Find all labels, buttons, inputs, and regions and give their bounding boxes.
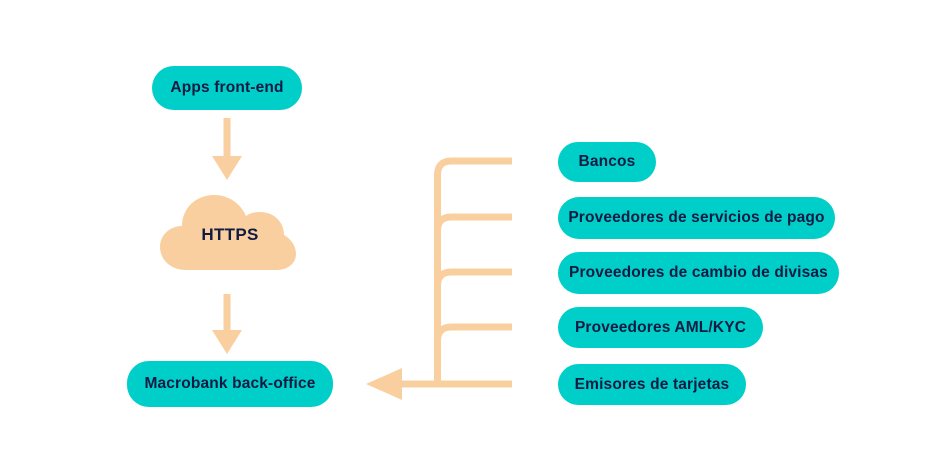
- cloud-https-label: HTTPS: [178, 225, 282, 245]
- node-macrobank-backoffice[interactable]: Macrobank back-office: [127, 361, 333, 407]
- node-macrobank-backoffice-label: Macrobank back-office: [144, 375, 315, 393]
- node-provider-cambio-de-divisas-label: Proveedores de cambio de divisas: [569, 264, 828, 282]
- node-provider-bancos[interactable]: Bancos: [558, 142, 656, 182]
- nodes-layer: Apps front-end HTTPS Macrobank back-offi…: [0, 0, 930, 473]
- node-provider-bancos-label: Bancos: [579, 153, 636, 171]
- node-apps-frontend-label: Apps front-end: [170, 79, 283, 97]
- node-provider-servicios-de-pago-label: Proveedores de servicios de pago: [568, 209, 824, 227]
- architecture-diagram: Apps front-end HTTPS Macrobank back-offi…: [0, 0, 930, 473]
- node-provider-aml-kyc[interactable]: Proveedores AML/KYC: [558, 307, 763, 348]
- node-provider-cambio-de-divisas[interactable]: Proveedores de cambio de divisas: [558, 252, 839, 294]
- node-provider-aml-kyc-label: Proveedores AML/KYC: [575, 319, 746, 337]
- node-provider-emisores-de-tarjetas[interactable]: Emisores de tarjetas: [558, 364, 746, 405]
- node-provider-servicios-de-pago[interactable]: Proveedores de servicios de pago: [558, 197, 835, 239]
- node-apps-frontend[interactable]: Apps front-end: [152, 66, 302, 110]
- node-provider-emisores-de-tarjetas-label: Emisores de tarjetas: [575, 376, 730, 394]
